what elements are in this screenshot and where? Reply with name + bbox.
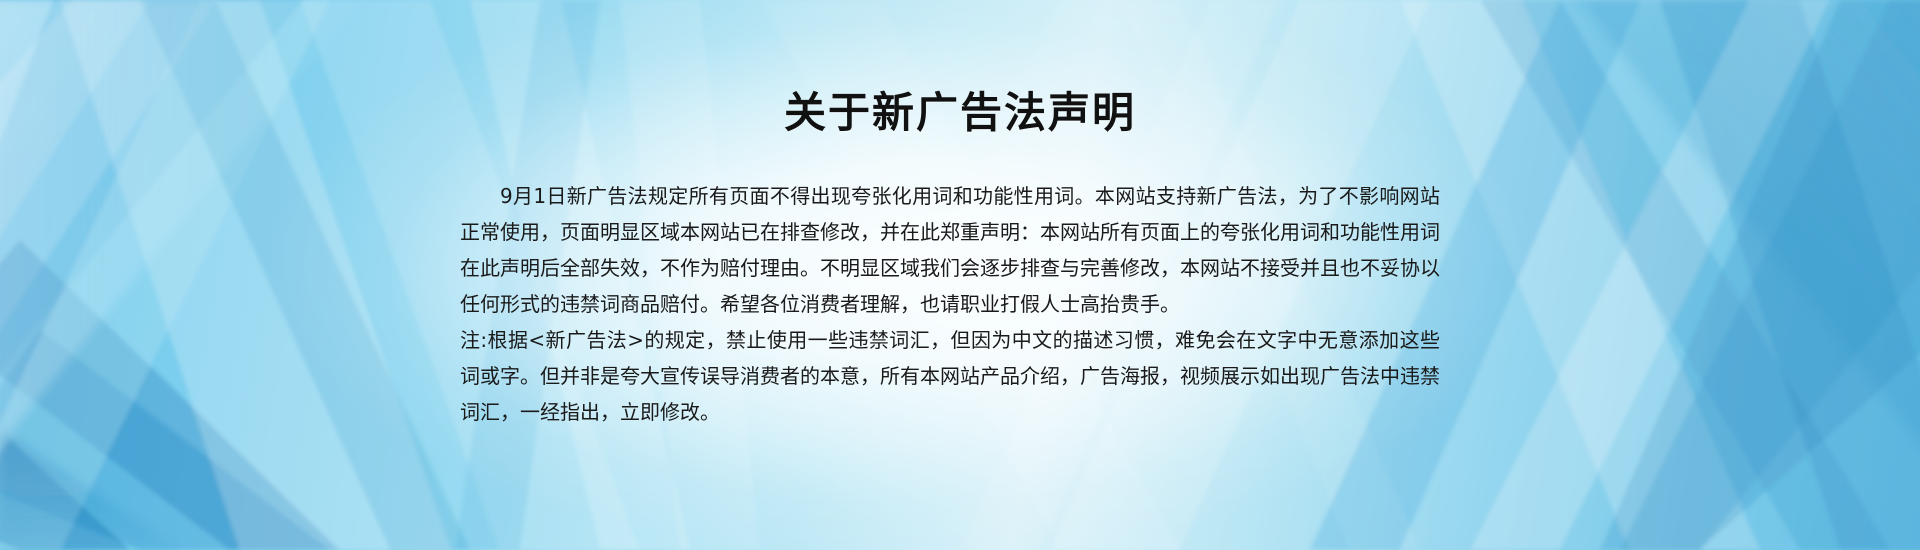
statement-paragraph-note: 注:根据<新广告法>的规定，禁止使用一些违禁词汇，但因为中文的描述习惯，难免会在… [460, 322, 1440, 430]
statement-paragraph-main: 9月1日新广告法规定所有页面不得出现夸张化用词和功能性用词。本网站支持新广告法，… [460, 178, 1440, 322]
statement-content: 关于新广告法声明 9月1日新广告法规定所有页面不得出现夸张化用词和功能性用词。本… [0, 0, 1920, 550]
page-title: 关于新广告法声明 [0, 88, 1920, 138]
advertising-law-statement-banner: 关于新广告法声明 9月1日新广告法规定所有页面不得出现夸张化用词和功能性用词。本… [0, 0, 1920, 550]
statement-body: 9月1日新广告法规定所有页面不得出现夸张化用词和功能性用词。本网站支持新广告法，… [460, 178, 1440, 430]
